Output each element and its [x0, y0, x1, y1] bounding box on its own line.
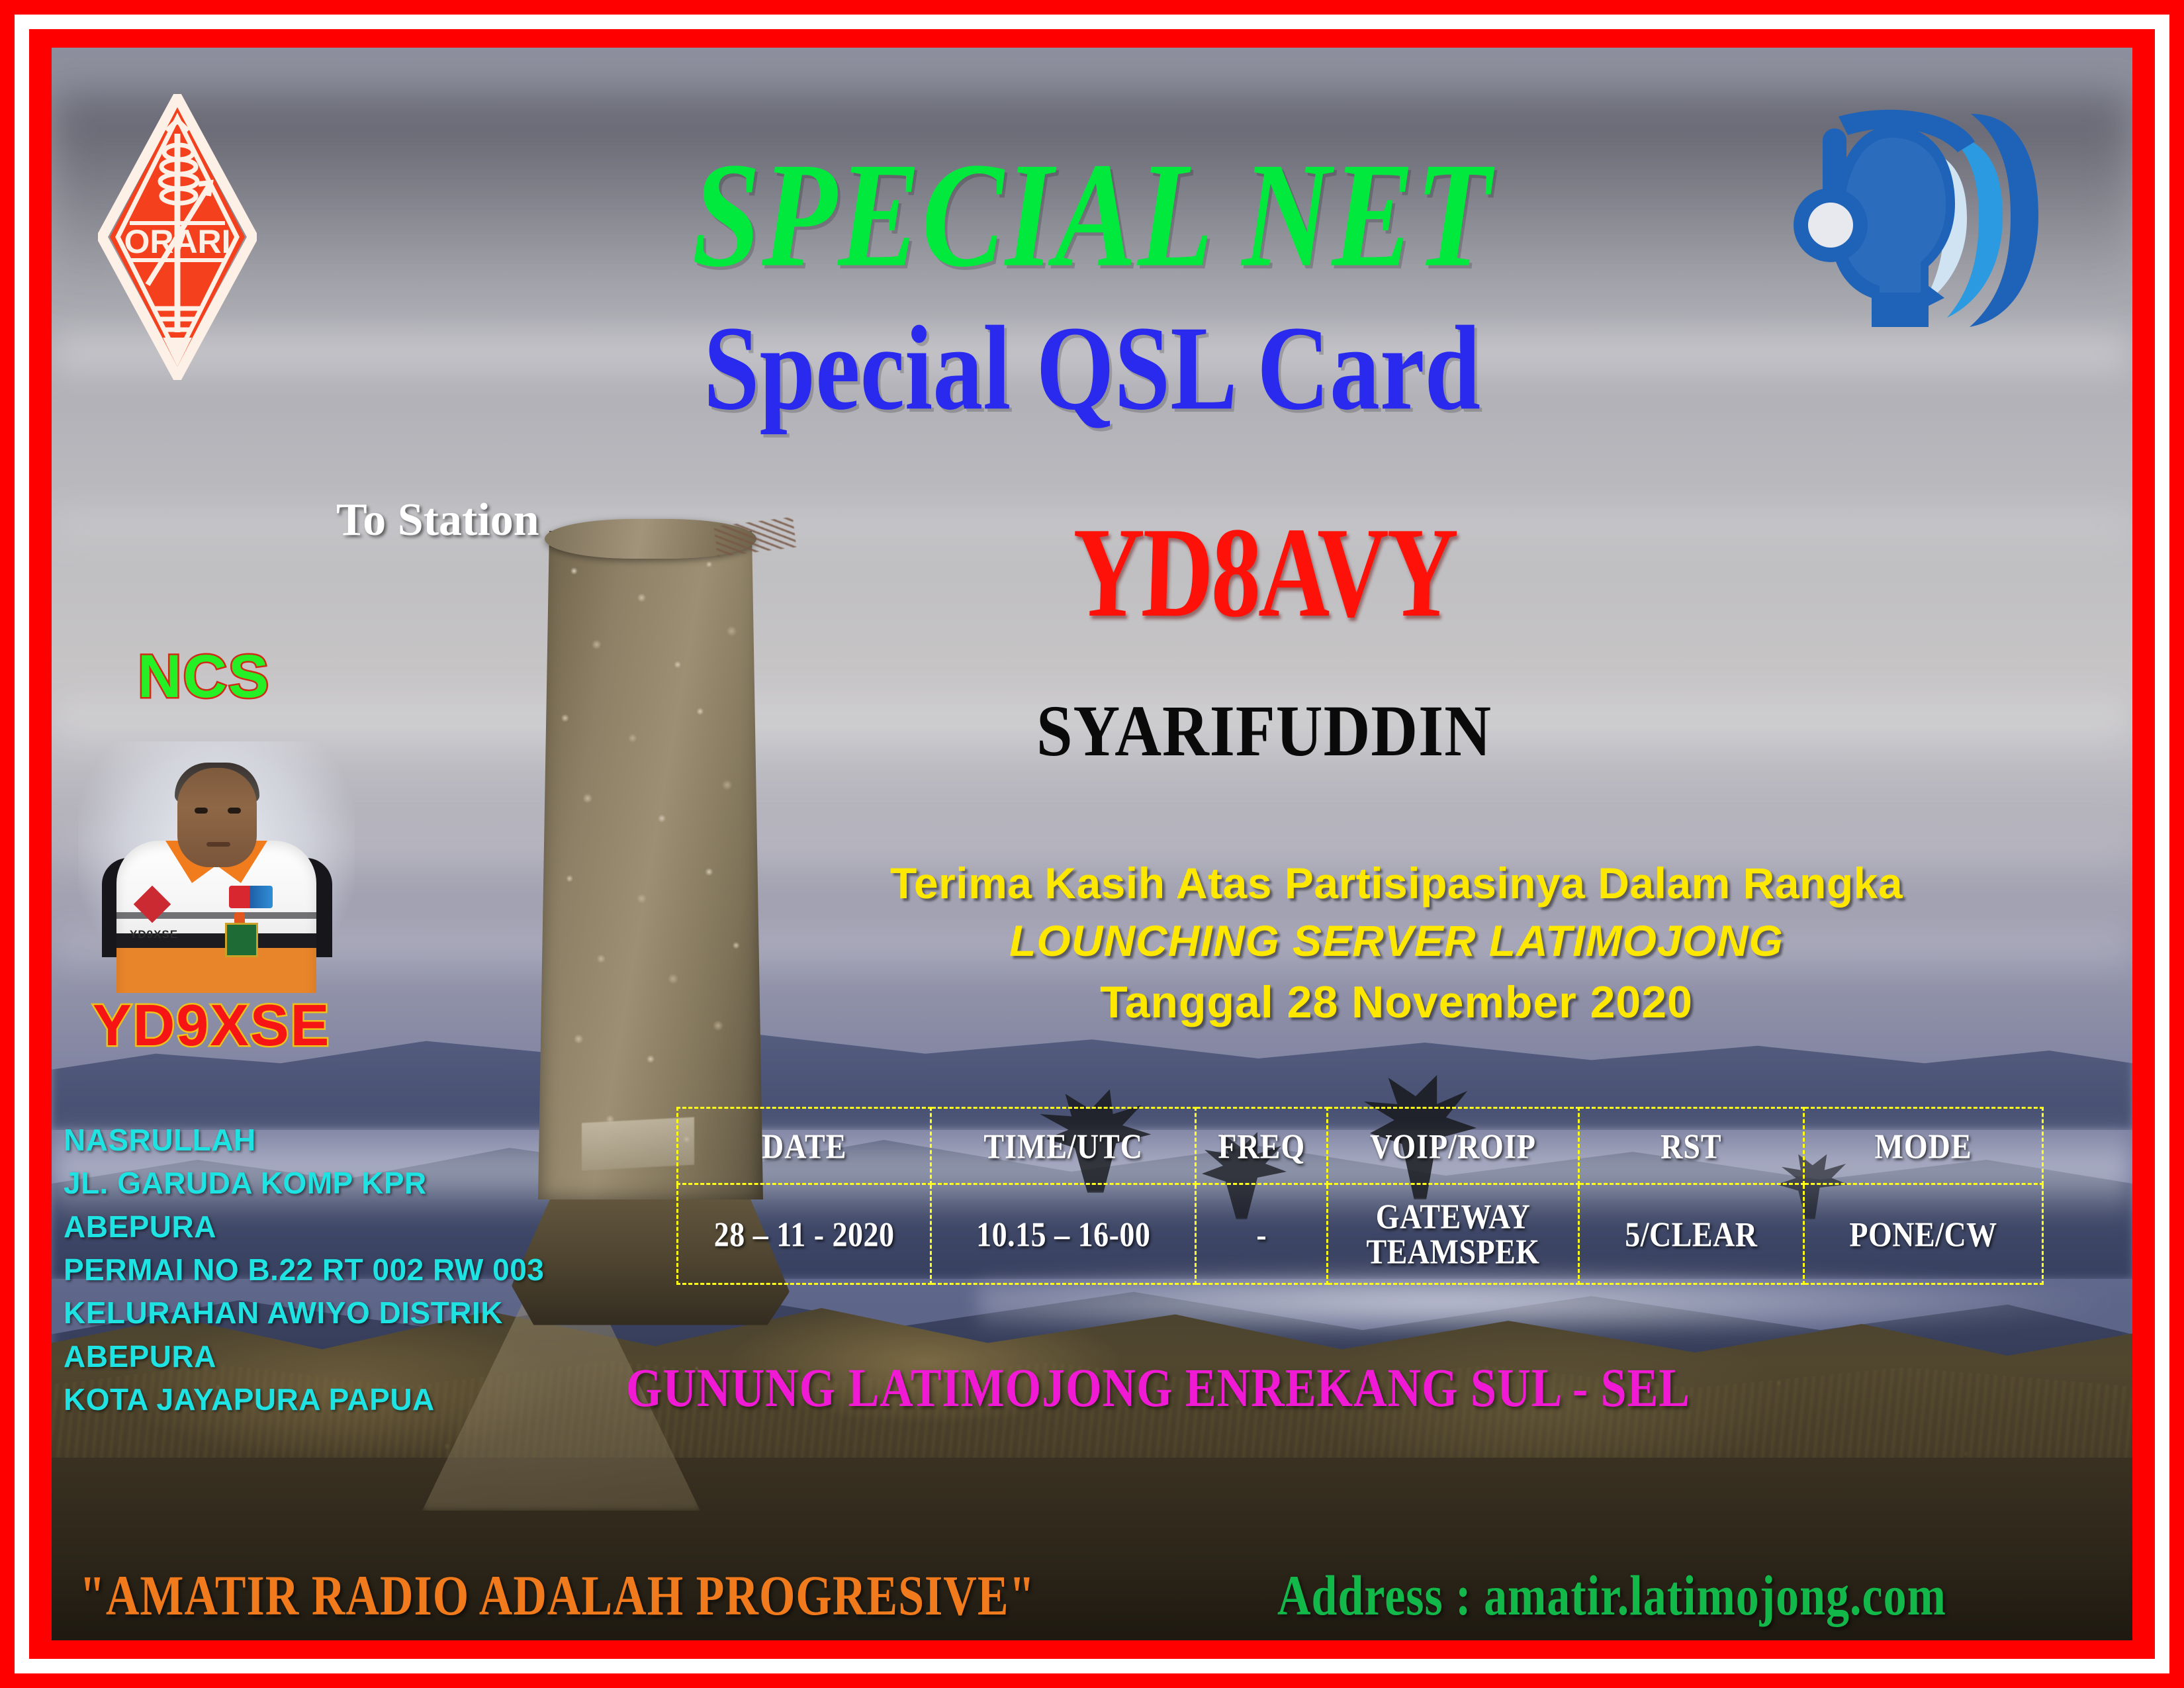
column-header-mode: MODE — [1804, 1108, 2043, 1184]
ncs-callsign: YD9XSE — [93, 992, 330, 1059]
address-line: JL. GARUDA KOMP KPR — [64, 1162, 544, 1205]
column-header-freq: FREQ — [1196, 1108, 1328, 1184]
thanks-line-3: Tanggal 28 November 2020 — [688, 979, 2105, 1026]
address-line: NASRULLAH — [64, 1119, 544, 1162]
thanks-line-2: LOUNCHING SERVER LATIMOJONG — [688, 918, 2105, 964]
title-special-net: SPECIAL NET — [0, 154, 2184, 277]
title-special-qsl-card: Special QSL Card — [0, 318, 2184, 418]
column-header-time-utc: TIME/UTC — [931, 1108, 1196, 1184]
id-card — [225, 923, 258, 957]
title-special-net-text: SPECIAL NET — [692, 140, 1492, 291]
location-line: GUNUNG LATIMOJONG ENREKANG SUL - SEL — [0, 1362, 2184, 1415]
face — [177, 768, 257, 867]
table-header-row: DATE TIME/UTC FREQ VOIP/ROIP RST MODE — [678, 1108, 2043, 1184]
shirt-callsign-tag: YD9XSE — [130, 928, 178, 941]
address-line: PERMAI NO B.22 RT 002 RW 003 — [64, 1248, 544, 1291]
cell-voip-roip: GATEWAY TEAMSPEK — [1328, 1184, 1578, 1284]
cell-date: 28 – 11 - 2020 — [678, 1184, 931, 1284]
footer-web-address-text: Address : amatir.latimojong.com — [1277, 1564, 1946, 1629]
cell-rst: 5/CLEAR — [1578, 1184, 1803, 1284]
address-line: KELURAHAN AWIYO DISTRIK — [64, 1291, 544, 1335]
qsl-card: ORARI — [0, 0, 2184, 1688]
qso-log-table: DATE TIME/UTC FREQ VOIP/ROIP RST MODE 28… — [676, 1107, 2044, 1285]
uniform-badge-right — [229, 886, 273, 908]
eye-right — [228, 808, 241, 814]
eye-left — [195, 808, 208, 814]
station-callsign-text: YD8AVY — [1071, 508, 1458, 637]
operator-name: SYARIFUDDIN — [0, 699, 2184, 764]
station-callsign: YD8AVY — [0, 523, 2184, 622]
thanks-message: Terima Kasih Atas Partisipasinya Dalam R… — [688, 861, 2105, 1026]
column-header-date: DATE — [678, 1108, 931, 1184]
address-line: ABEPURA — [64, 1205, 544, 1248]
footer-web-address: Address : amatir.latimojong.com — [1277, 1570, 1946, 1623]
operator-photo: YD9XSE — [78, 741, 355, 993]
table-row: 28 – 11 - 2020 10.15 – 16-00 - GATEWAY T… — [678, 1184, 2043, 1284]
footer-slogan-text: "AMATIR RADIO ADALAH PROGRESIVE" — [79, 1564, 1035, 1629]
thanks-line-1: Terima Kasih Atas Partisipasinya Dalam R… — [688, 861, 2105, 906]
cell-freq: - — [1196, 1184, 1328, 1284]
title-special-qsl-card-text: Special QSL Card — [704, 308, 1480, 428]
cell-mode: PONE/CW — [1804, 1184, 2043, 1284]
column-header-rst: RST — [1578, 1108, 1803, 1184]
column-header-voip-roip: VOIP/ROIP — [1328, 1108, 1578, 1184]
footer-slogan: "AMATIR RADIO ADALAH PROGRESIVE" — [79, 1570, 1035, 1623]
overlay-layer: ORARI — [0, 0, 2184, 1688]
cell-time-utc: 10.15 – 16-00 — [931, 1184, 1196, 1284]
mouth — [206, 842, 230, 847]
operator-name-text: SYARIFUDDIN — [1036, 695, 1492, 768]
location-line-text: GUNUNG LATIMOJONG ENREKANG SUL - SEL — [626, 1358, 1690, 1420]
